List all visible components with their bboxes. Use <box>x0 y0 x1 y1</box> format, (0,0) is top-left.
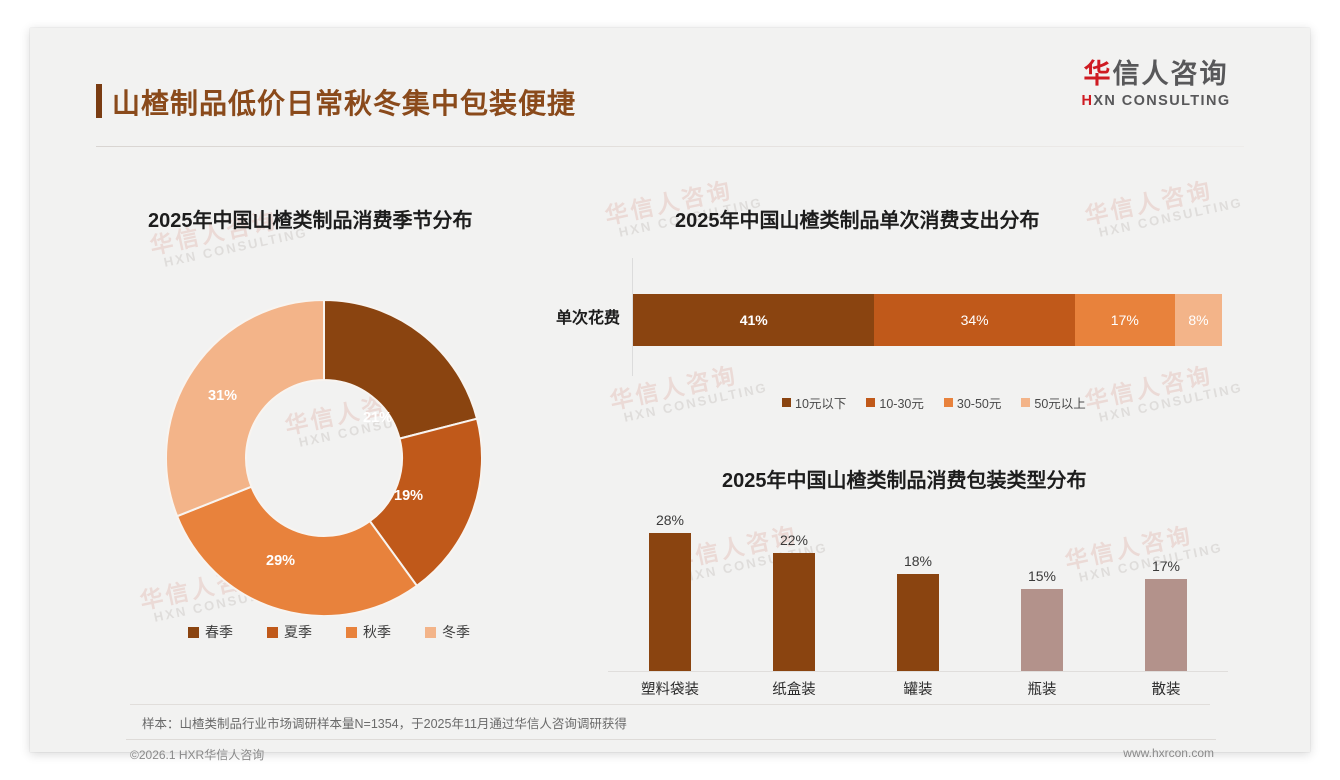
stacked-bar-segment[interactable]: 8% <box>1175 294 1222 346</box>
logo-h-char: H <box>1081 93 1093 109</box>
column-value-label: 22% <box>780 532 808 548</box>
legend-item[interactable]: 10-30元 <box>866 393 923 412</box>
column-x-label: 罐装 <box>856 678 980 699</box>
slide-canvas: 华信人咨询 HXN CONSULTING 华信人咨询 HXN CONSULTIN… <box>30 28 1310 752</box>
donut-chart-title: 2025年中国山楂类制品消费季节分布 <box>148 204 473 233</box>
slide-header: 山楂制品低价日常秋冬集中包装便捷 华信人咨询 HXN CONSULTING <box>30 28 1310 124</box>
note-divider <box>130 704 1210 705</box>
column-bar[interactable] <box>649 533 691 671</box>
column-group: 28% <box>608 512 732 671</box>
logo-english-text: HXN CONSULTING <box>1070 93 1242 109</box>
legend-label: 冬季 <box>442 622 470 642</box>
logo-hua-char: 华 <box>1084 59 1113 89</box>
column-value-label: 18% <box>904 553 932 569</box>
legend-swatch-icon <box>425 627 436 638</box>
donut-slice-label: 19% <box>394 488 423 504</box>
column-value-label: 17% <box>1152 558 1180 574</box>
page-title: 山楂制品低价日常秋冬集中包装便捷 <box>112 82 576 122</box>
column-chart-baseline <box>608 671 1228 672</box>
legend-swatch-icon <box>188 627 199 638</box>
donut-slice-label: 31% <box>208 388 237 404</box>
donut-chart: 21% 19% 29% 31% <box>166 300 482 616</box>
stacked-bar-segment[interactable]: 41% <box>633 294 874 346</box>
stacked-bar-segment[interactable]: 34% <box>874 294 1074 346</box>
column-group: 15% <box>980 512 1104 671</box>
donut-slice[interactable] <box>177 487 417 616</box>
sample-note: 样本：山楂类制品行业市场调研样本量N=1354，于2025年11月通过华信人咨询… <box>142 713 627 732</box>
column-x-label: 散装 <box>1104 678 1228 699</box>
legend-label: 夏季 <box>284 622 312 642</box>
stacked-bar-chart: 41% 34% 17% 8% <box>632 258 1222 376</box>
legend-swatch-icon <box>346 627 357 638</box>
column-group: 22% <box>732 512 856 671</box>
logo-en-rest: XN CONSULTING <box>1093 93 1230 109</box>
legend-label: 30-50元 <box>957 393 1001 412</box>
footer-divider <box>126 739 1216 740</box>
logo-cn-rest: 信人咨询 <box>1113 59 1229 89</box>
logo-chinese-text: 华信人咨询 <box>1070 60 1242 90</box>
legend-item[interactable]: 秋季 <box>346 622 391 642</box>
stacked-bar-legend: 10元以下 10-30元 30-50元 50元以上 <box>782 393 1086 412</box>
legend-label: 10元以下 <box>795 393 846 412</box>
column-value-label: 15% <box>1028 568 1056 584</box>
donut-svg <box>166 300 482 616</box>
column-chart: 28% 22% 18% 15% 17% <box>608 512 1228 672</box>
title-accent-bar <box>96 84 102 118</box>
watermark-line2: HXN CONSULTING <box>1098 381 1244 425</box>
donut-legend: 春季 夏季 秋季 冬季 <box>188 622 470 642</box>
stacked-bar-segment[interactable]: 17% <box>1075 294 1175 346</box>
column-x-label: 瓶装 <box>980 678 1104 699</box>
legend-item[interactable]: 春季 <box>188 622 233 642</box>
stacked-bar-category-label: 单次花费 <box>528 304 620 328</box>
legend-label: 50元以上 <box>1034 393 1085 412</box>
legend-item[interactable]: 夏季 <box>267 622 312 642</box>
watermark-line1: 华信人咨询 <box>1083 172 1241 228</box>
column-group: 17% <box>1104 512 1228 671</box>
legend-swatch-icon <box>1021 398 1030 407</box>
column-chart-title: 2025年中国山楂类制品消费包装类型分布 <box>722 464 1087 493</box>
legend-swatch-icon <box>267 627 278 638</box>
column-value-label: 28% <box>656 512 684 528</box>
legend-swatch-icon <box>782 398 791 407</box>
legend-swatch-icon <box>944 398 953 407</box>
legend-swatch-icon <box>866 398 875 407</box>
legend-label: 秋季 <box>363 622 391 642</box>
copyright-text: ©2026.1 HXR华信人咨询 <box>130 746 264 763</box>
stacked-bar: 41% 34% 17% 8% <box>633 294 1222 346</box>
column-x-label: 纸盒装 <box>732 678 856 699</box>
website-text[interactable]: www.hxrcon.com <box>1123 746 1214 760</box>
column-group: 18% <box>856 512 980 671</box>
company-logo: 华信人咨询 HXN CONSULTING <box>1070 60 1242 109</box>
donut-slice[interactable] <box>324 300 477 439</box>
column-bar[interactable] <box>1021 589 1063 671</box>
legend-label: 春季 <box>205 622 233 642</box>
column-bar[interactable] <box>897 574 939 671</box>
legend-item[interactable]: 50元以上 <box>1021 393 1085 412</box>
donut-slice-label: 29% <box>266 553 295 569</box>
donut-slice-label: 21% <box>363 410 392 426</box>
watermark-line2: HXN CONSULTING <box>623 381 769 425</box>
column-x-label: 塑料袋装 <box>608 678 732 699</box>
legend-item[interactable]: 10元以下 <box>782 393 846 412</box>
watermark: 华信人咨询 HXN CONSULTING <box>1083 172 1244 242</box>
stacked-bar-chart-title: 2025年中国山楂类制品单次消费支出分布 <box>675 204 1040 233</box>
column-bar[interactable] <box>773 553 815 671</box>
legend-item[interactable]: 冬季 <box>425 622 470 642</box>
column-bar[interactable] <box>1145 579 1187 671</box>
legend-label: 10-30元 <box>879 393 923 412</box>
watermark-line2: HXN CONSULTING <box>1098 196 1244 240</box>
legend-item[interactable]: 30-50元 <box>944 393 1001 412</box>
header-divider <box>96 146 1244 147</box>
donut-slice[interactable] <box>166 300 324 516</box>
